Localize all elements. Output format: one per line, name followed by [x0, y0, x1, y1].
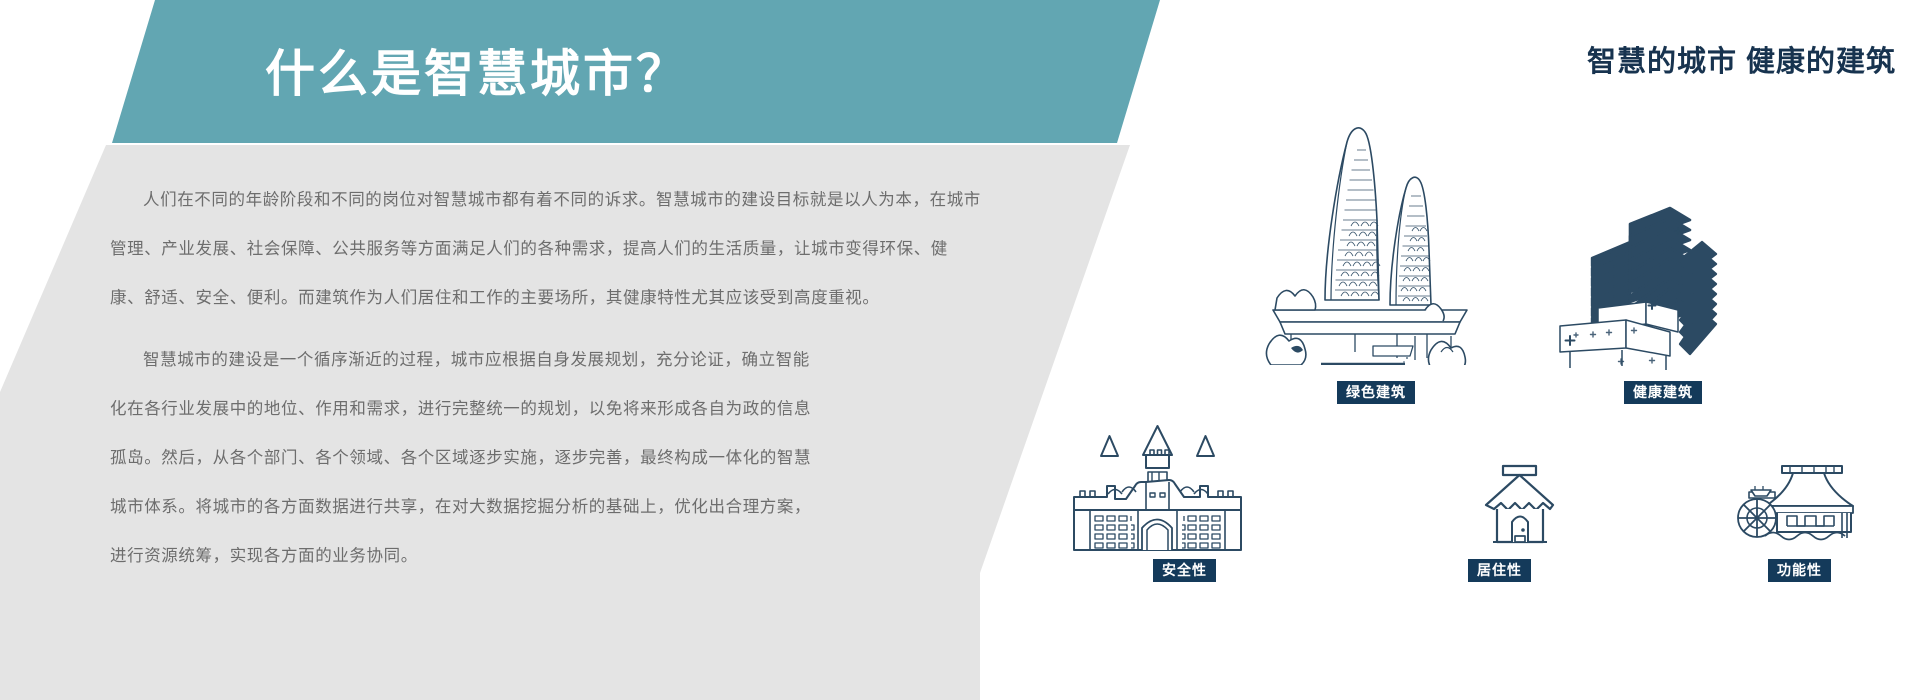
- paragraph-line: 进行资源统筹，实现各方面的业务协同。: [110, 532, 811, 581]
- layered-hospital-icon: [1530, 180, 1760, 370]
- paragraph-line: 人们在不同的年龄阶段和不同的岗位对智慧城市都有着不同的诉求。智慧城市的建设目标就…: [110, 176, 981, 225]
- illustration-label-badge: 绿色建筑: [1337, 381, 1415, 404]
- illustration-label-badge: 健康建筑: [1624, 381, 1702, 404]
- paragraph-one: 人们在不同的年龄阶段和不同的岗位对智慧城市都有着不同的诉求。智慧城市的建设目标就…: [110, 176, 981, 323]
- watermill-pavilion-icon: [1735, 460, 1865, 550]
- paragraph-two: 智慧城市的建设是一个循序渐近的过程，城市应根据自身发展规划，充分论证，确立智能 …: [110, 336, 811, 581]
- paragraph-line: 康、舒适、安全、便利。而建筑作为人们居住和工作的主要场所，其健康特性尤其应该受到…: [110, 274, 981, 323]
- house-icon: [1470, 460, 1570, 550]
- paragraph-line: 孤岛。然后，从各个部门、各个领域、各个区域逐步实施，逐步完善，最终构成一体化的智…: [110, 434, 811, 483]
- illustration-label-badge: 安全性: [1153, 559, 1216, 582]
- illustration-label-badge: 功能性: [1768, 559, 1831, 582]
- paragraph-line: 智慧城市的建设是一个循序渐近的过程，城市应根据自身发展规划，充分论证，确立智能: [110, 336, 811, 385]
- castle-icon: [1060, 420, 1255, 555]
- twin-towers-icon: [1255, 110, 1485, 365]
- right-header-title: 智慧的城市 健康的建筑: [1587, 38, 1896, 80]
- illustration-label-badge: 居住性: [1468, 559, 1531, 582]
- paragraph-line: 城市体系。将城市的各方面数据进行共享，在对大数据挖掘分析的基础上，优化出合理方案…: [110, 483, 811, 532]
- paragraph-line: 管理、产业发展、社会保障、公共服务等方面满足人们的各种需求，提高人们的生活质量，…: [110, 225, 981, 274]
- page-title: 什么是智慧城市？: [265, 34, 1025, 114]
- paragraph-line: 化在各行业发展中的地位、作用和需求，进行完整统一的规划，以免将来形成各自为政的信…: [110, 385, 811, 434]
